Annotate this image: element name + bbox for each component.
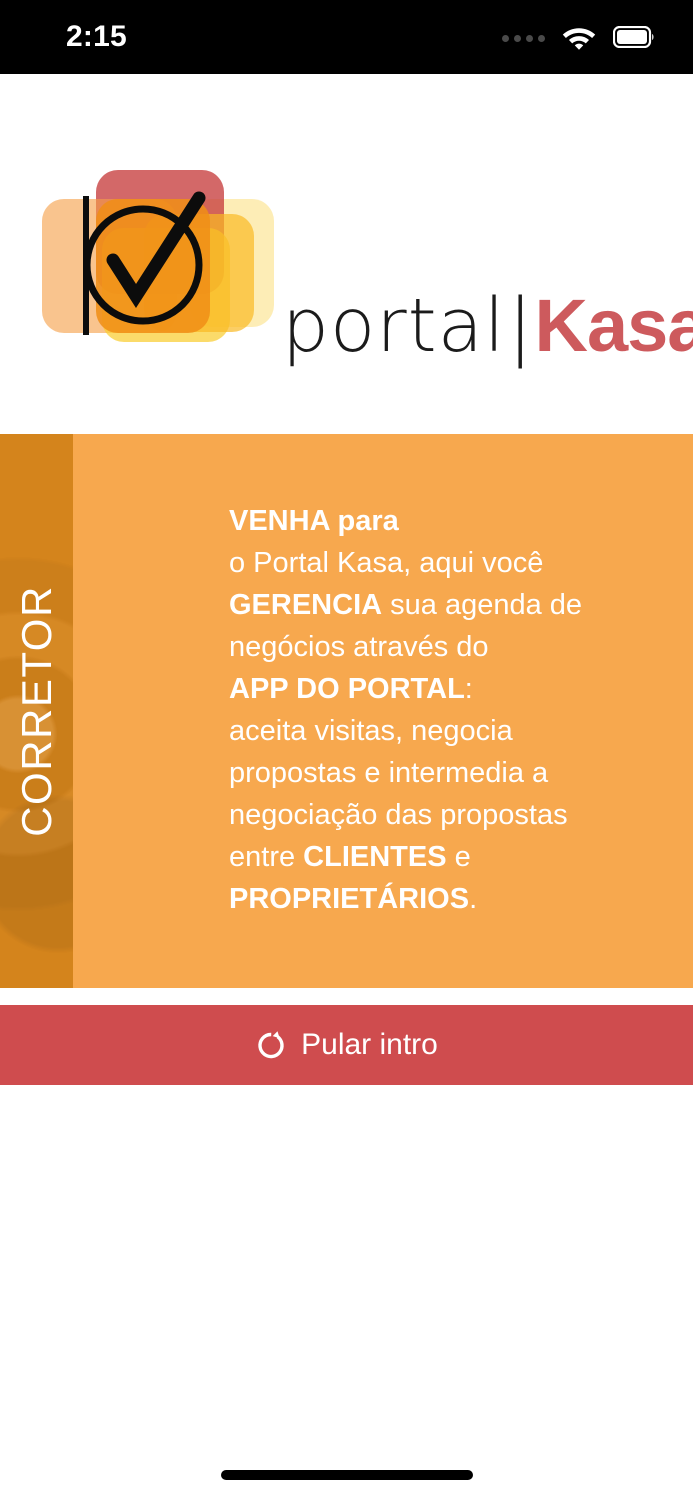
intro-line: APP DO PORTAL:	[229, 668, 649, 710]
home-indicator[interactable]	[221, 1470, 473, 1480]
intro-line: propostas e intermedia a	[229, 752, 649, 794]
intro-side-label-wrap: CORRETOR	[0, 434, 73, 988]
wordmark-separator: |	[508, 283, 533, 369]
status-bar-time: 2:15	[66, 22, 127, 52]
intro-line: negociação das propostas	[229, 794, 649, 836]
redo-arrow-icon	[255, 1029, 287, 1061]
intro-emphasis: APP DO PORTAL	[229, 673, 465, 705]
intro-emphasis: VENHA	[229, 505, 329, 537]
intro-line: GERENCIA sua agenda de	[229, 584, 649, 626]
brand-wordmark: portal|Kasa	[282, 289, 693, 363]
wordmark-portal: portal	[282, 283, 506, 369]
battery-full-icon	[613, 26, 655, 48]
intro-side-label: CORRETOR	[13, 585, 61, 837]
status-bar-indicators	[502, 25, 655, 50]
logo-check-mark-icon	[40, 170, 280, 355]
signal-dots-icon	[502, 35, 545, 42]
intro-run: e	[447, 841, 471, 873]
intro-line: aceita visitas, negocia	[229, 710, 649, 752]
intro-line: entre CLIENTES e	[229, 836, 649, 878]
intro-line: PROPRIETÁRIOS.	[229, 878, 649, 920]
intro-emphasis: para	[329, 505, 398, 537]
portal-kasa-logo-icon	[40, 170, 280, 355]
intro-emphasis: CLIENTES	[303, 841, 446, 873]
intro-emphasis: PROPRIETÁRIOS	[229, 883, 469, 915]
status-bar: 2:15	[0, 0, 693, 74]
intro-run: aceita visitas, negocia	[229, 715, 513, 747]
intro-run: o Portal Kasa, aqui você	[229, 547, 543, 579]
intro-run: :	[465, 673, 473, 705]
intro-body-text: VENHA parao Portal Kasa, aqui vocêGERENC…	[229, 500, 649, 920]
intro-run: sua agenda de	[382, 589, 582, 621]
brand-header: portal|Kasa	[0, 74, 693, 434]
skip-intro-button[interactable]: Pular intro	[0, 1005, 693, 1085]
intro-line: VENHA para	[229, 500, 649, 542]
intro-run: entre	[229, 841, 303, 873]
intro-emphasis: GERENCIA	[229, 589, 382, 621]
intro-line: negócios através do	[229, 626, 649, 668]
intro-run: propostas e intermedia a	[229, 757, 548, 789]
intro-run: negociação das propostas	[229, 799, 568, 831]
intro-line: o Portal Kasa, aqui você	[229, 542, 649, 584]
intro-panel: CORRETOR VENHA parao Portal Kasa, aqui v…	[0, 434, 693, 988]
skip-intro-label: Pular intro	[301, 1030, 438, 1060]
intro-run: negócios através do	[229, 631, 489, 663]
wordmark-kasa: Kasa	[535, 284, 693, 367]
intro-run: .	[469, 883, 477, 915]
wifi-icon	[562, 25, 596, 50]
